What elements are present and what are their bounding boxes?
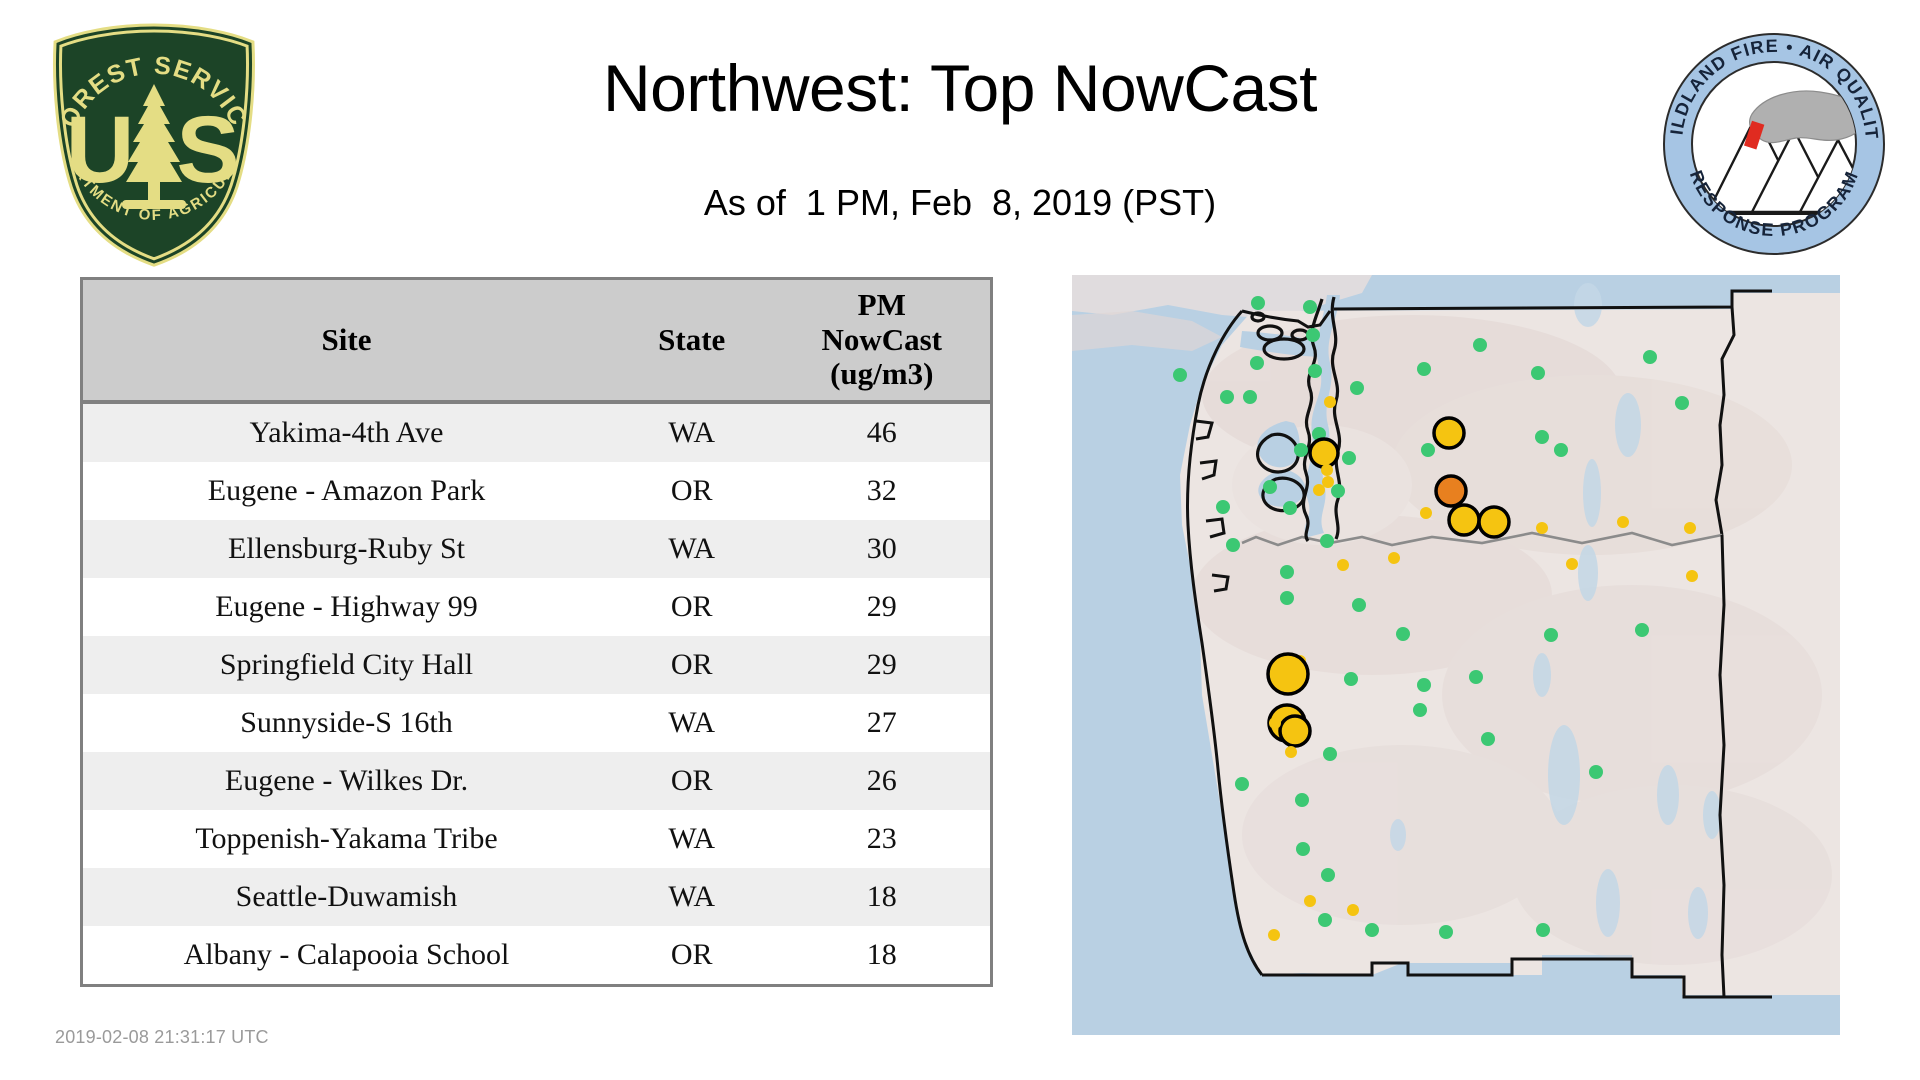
- site-name-cell: Toppenish-Yakama Tribe: [82, 810, 610, 868]
- map-monitor-marker[interactable]: [1421, 443, 1435, 457]
- map-monitor-marker[interactable]: [1479, 507, 1509, 537]
- column-header-state: State: [610, 279, 774, 403]
- map-monitor-marker[interactable]: [1304, 895, 1316, 907]
- map-monitor-marker[interactable]: [1285, 746, 1297, 758]
- map-monitor-marker[interactable]: [1417, 678, 1431, 692]
- site-name-cell: Seattle-Duwamish: [82, 868, 610, 926]
- map-monitor-marker[interactable]: [1235, 777, 1249, 791]
- map-monitor-marker[interactable]: [1535, 430, 1549, 444]
- state-cell: WA: [610, 810, 774, 868]
- map-monitor-marker[interactable]: [1295, 793, 1309, 807]
- map-monitor-marker[interactable]: [1420, 507, 1432, 519]
- site-name-cell: Eugene - Amazon Park: [82, 462, 610, 520]
- map-monitor-marker[interactable]: [1268, 654, 1308, 694]
- pm-nowcast-value-cell: 18: [773, 926, 991, 986]
- map-monitor-marker[interactable]: [1310, 439, 1338, 467]
- map-monitor-marker[interactable]: [1554, 443, 1568, 457]
- pm-nowcast-value-cell: 27: [773, 694, 991, 752]
- table-row: Seattle-DuwamishWA18: [82, 868, 992, 926]
- map-monitor-marker[interactable]: [1268, 929, 1280, 941]
- map-monitor-marker[interactable]: [1481, 732, 1495, 746]
- map-monitor-marker[interactable]: [1434, 418, 1464, 448]
- map-monitor-marker[interactable]: [1250, 356, 1264, 370]
- pm-nowcast-value-cell: 18: [773, 868, 991, 926]
- map-monitor-marker[interactable]: [1296, 842, 1310, 856]
- site-name-cell: Yakima-4th Ave: [82, 402, 610, 462]
- map-monitor-marker[interactable]: [1388, 552, 1400, 564]
- column-header-line-1: PM: [773, 288, 990, 323]
- state-cell: WA: [610, 694, 774, 752]
- pm-nowcast-value-cell: 29: [773, 636, 991, 694]
- state-cell: WA: [610, 402, 774, 462]
- map-monitor-marker[interactable]: [1686, 570, 1698, 582]
- map-monitor-marker[interactable]: [1675, 396, 1689, 410]
- map-monitor-marker[interactable]: [1251, 296, 1265, 310]
- site-name-cell: Sunnyside-S 16th: [82, 694, 610, 752]
- table-header-row: Site State PM NowCast (ug/m3): [82, 279, 992, 403]
- terrain-shading: [1192, 315, 1832, 965]
- map-monitor-marker[interactable]: [1342, 451, 1356, 465]
- map-monitor-marker[interactable]: [1337, 559, 1349, 571]
- pm-nowcast-value-cell: 46: [773, 402, 991, 462]
- map-monitor-marker[interactable]: [1531, 366, 1545, 380]
- map-monitor-marker[interactable]: [1344, 672, 1358, 686]
- map-monitor-marker[interactable]: [1318, 913, 1332, 927]
- table-row: Yakima-4th AveWA46: [82, 402, 992, 462]
- state-cell: OR: [610, 578, 774, 636]
- state-cell: OR: [610, 636, 774, 694]
- state-cell: WA: [610, 868, 774, 926]
- column-header-line-2: NowCast: [773, 323, 990, 358]
- map-monitor-marker[interactable]: [1306, 328, 1320, 342]
- column-header-pm-nowcast: PM NowCast (ug/m3): [773, 279, 991, 403]
- map-monitor-marker[interactable]: [1263, 480, 1277, 494]
- map-monitor-marker[interactable]: [1173, 368, 1187, 382]
- map-monitor-marker[interactable]: [1643, 350, 1657, 364]
- table-header: Site State PM NowCast (ug/m3): [82, 279, 992, 403]
- map-monitor-marker[interactable]: [1684, 522, 1696, 534]
- map-monitor-marker[interactable]: [1294, 443, 1308, 457]
- map-monitor-marker[interactable]: [1589, 765, 1603, 779]
- site-name-cell: Ellensburg-Ruby St: [82, 520, 610, 578]
- map-monitor-marker[interactable]: [1313, 484, 1325, 496]
- map-panel[interactable]: [1072, 275, 1840, 1035]
- map-monitor-marker[interactable]: [1566, 558, 1578, 570]
- map-monitor-marker[interactable]: [1216, 500, 1230, 514]
- table-row: Albany - Calapooia SchoolOR18: [82, 926, 992, 986]
- pm-nowcast-value-cell: 23: [773, 810, 991, 868]
- map-monitor-marker[interactable]: [1324, 396, 1336, 408]
- map-monitor-marker[interactable]: [1280, 565, 1294, 579]
- site-name-cell: Springfield City Hall: [82, 636, 610, 694]
- page-subtitle: As of 1 PM, Feb 8, 2019 (PST): [0, 182, 1920, 224]
- state-cell: WA: [610, 520, 774, 578]
- map-monitor-marker[interactable]: [1321, 868, 1335, 882]
- map-monitor-marker[interactable]: [1269, 717, 1281, 729]
- page-title: Northwest: Top NowCast: [0, 52, 1920, 125]
- state-cell: OR: [610, 926, 774, 986]
- table-row: Ellensburg-Ruby StWA30: [82, 520, 992, 578]
- pm-nowcast-value-cell: 32: [773, 462, 991, 520]
- map-monitor-marker[interactable]: [1303, 300, 1317, 314]
- table-row: Sunnyside-S 16thWA27: [82, 694, 992, 752]
- map-monitor-marker[interactable]: [1536, 522, 1548, 534]
- map-monitor-marker[interactable]: [1280, 591, 1294, 605]
- map-monitor-marker[interactable]: [1417, 362, 1431, 376]
- map-monitor-marker[interactable]: [1396, 627, 1410, 641]
- state-cell: OR: [610, 462, 774, 520]
- map-monitor-marker[interactable]: [1226, 538, 1240, 552]
- map-monitor-marker[interactable]: [1352, 598, 1366, 612]
- nowcast-table: Site State PM NowCast (ug/m3) Yakima-4th…: [80, 277, 993, 987]
- pm-nowcast-value-cell: 26: [773, 752, 991, 810]
- map-monitor-marker[interactable]: [1439, 925, 1453, 939]
- table-row: Eugene - Wilkes Dr.OR26: [82, 752, 992, 810]
- map-monitor-marker[interactable]: [1322, 476, 1334, 488]
- map-monitor-marker[interactable]: [1635, 623, 1649, 637]
- map-monitor-marker[interactable]: [1347, 904, 1359, 916]
- column-header-line-3: (ug/m3): [773, 357, 990, 392]
- map-monitor-marker[interactable]: [1536, 923, 1550, 937]
- map-monitor-marker[interactable]: [1331, 484, 1345, 498]
- table-row: Eugene - Amazon ParkOR32: [82, 462, 992, 520]
- map-monitor-marker[interactable]: [1308, 364, 1322, 378]
- map-monitor-marker[interactable]: [1436, 476, 1466, 506]
- table-row: Eugene - Highway 99OR29: [82, 578, 992, 636]
- map-monitor-marker[interactable]: [1469, 670, 1483, 684]
- site-name-cell: Eugene - Wilkes Dr.: [82, 752, 610, 810]
- pm-nowcast-value-cell: 30: [773, 520, 991, 578]
- map-svg: [1072, 275, 1840, 1035]
- map-monitor-marker[interactable]: [1323, 747, 1337, 761]
- map-monitor-marker[interactable]: [1280, 716, 1310, 746]
- map-monitor-marker[interactable]: [1320, 534, 1334, 548]
- site-name-cell: Eugene - Highway 99: [82, 578, 610, 636]
- map-monitor-marker[interactable]: [1473, 338, 1487, 352]
- map-monitor-marker[interactable]: [1544, 628, 1558, 642]
- map-monitor-marker[interactable]: [1413, 703, 1427, 717]
- map-monitor-marker[interactable]: [1617, 516, 1629, 528]
- map-monitor-marker[interactable]: [1321, 464, 1333, 476]
- state-cell: OR: [610, 752, 774, 810]
- generated-timestamp: 2019-02-08 21:31:17 UTC: [55, 1027, 269, 1048]
- map-monitor-marker[interactable]: [1365, 923, 1379, 937]
- table-body: Yakima-4th AveWA46Eugene - Amazon ParkOR…: [82, 402, 992, 986]
- table-row: Toppenish-Yakama TribeWA23: [82, 810, 992, 868]
- table-row: Springfield City HallOR29: [82, 636, 992, 694]
- column-header-site: Site: [82, 279, 610, 403]
- map-monitor-marker[interactable]: [1449, 505, 1479, 535]
- map-monitor-marker[interactable]: [1350, 381, 1364, 395]
- map-monitor-marker[interactable]: [1220, 390, 1234, 404]
- site-name-cell: Albany - Calapooia School: [82, 926, 610, 986]
- map-monitor-marker[interactable]: [1283, 501, 1297, 515]
- pm-nowcast-value-cell: 29: [773, 578, 991, 636]
- map-monitor-marker[interactable]: [1243, 390, 1257, 404]
